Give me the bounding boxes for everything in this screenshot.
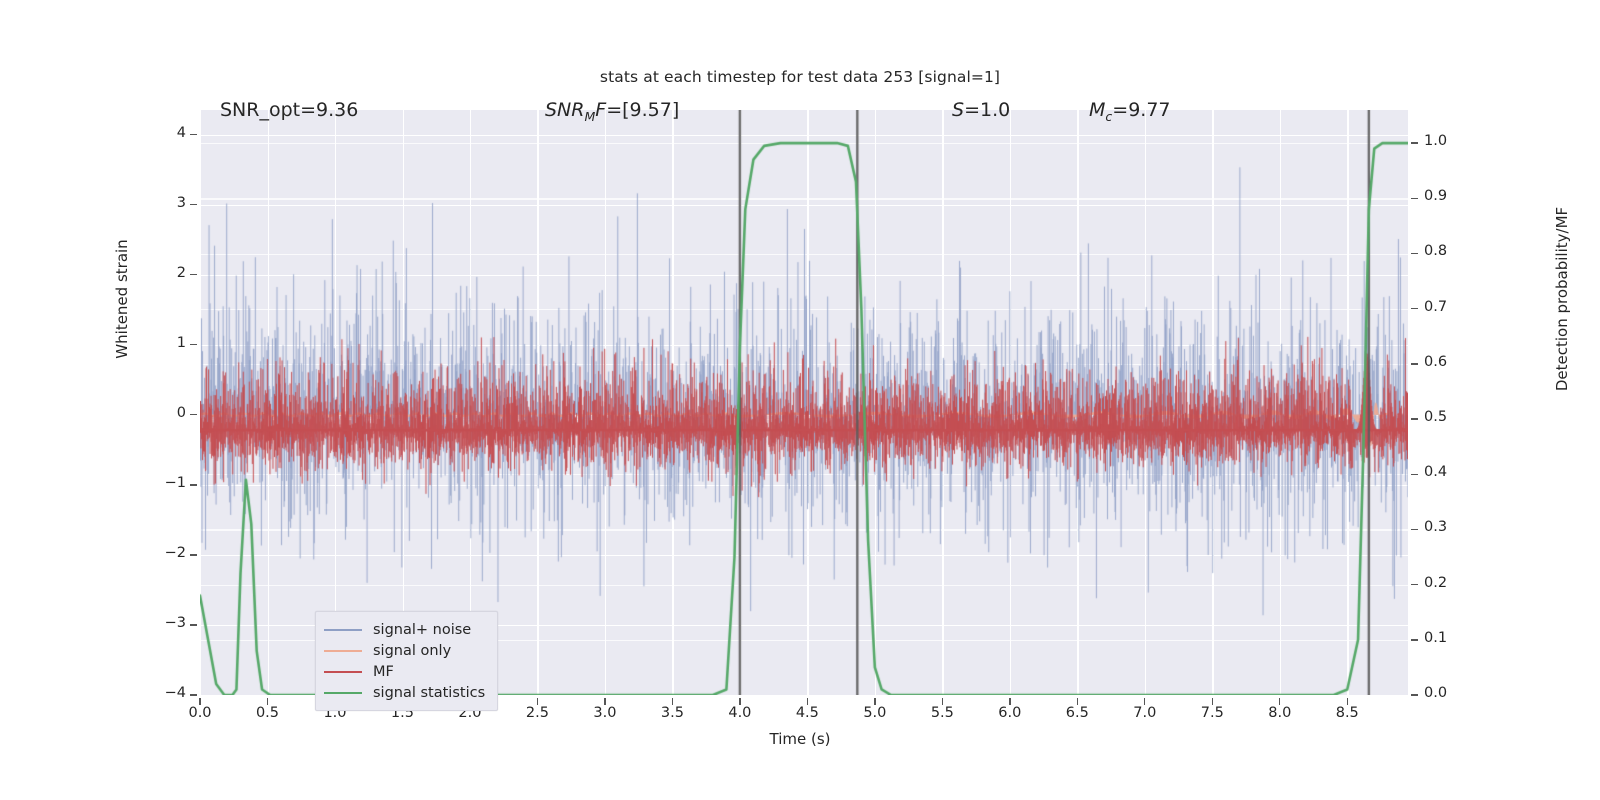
tick-mark — [807, 698, 808, 705]
x-tick-label: 0.0 — [170, 705, 230, 721]
figure-canvas: stats at each timestep for test data 253… — [0, 0, 1600, 800]
x-tick-label: 3.5 — [642, 705, 702, 721]
tick-mark — [1411, 694, 1418, 695]
tick-mark — [1411, 529, 1418, 530]
legend-swatch-icon — [324, 671, 362, 673]
legend-swatch-icon — [324, 629, 362, 631]
tick-mark — [874, 698, 875, 705]
tick-mark — [1411, 198, 1418, 199]
tick-mark — [1144, 698, 1145, 705]
y-tick-label-right: 0.5 — [1424, 409, 1474, 425]
x-tick-label: 4.5 — [777, 705, 837, 721]
tick-mark — [604, 698, 605, 705]
y-tick-label-left: 1 — [138, 335, 186, 351]
y-axis-right-label: Detection probability/MF — [1553, 169, 1571, 429]
tick-mark — [1347, 698, 1348, 705]
plot-area — [200, 110, 1408, 695]
y-tick-label-left: 4 — [138, 125, 186, 141]
tick-mark — [190, 274, 197, 275]
y-tick-label-right: 0.9 — [1424, 188, 1474, 204]
annotation-s: S=1.0 — [952, 99, 1010, 121]
tick-mark — [1009, 698, 1010, 705]
tick-mark — [1411, 308, 1418, 309]
y-tick-label-right: 0.7 — [1424, 299, 1474, 315]
annotation-snr-mf: SNRMF=[9.57] — [545, 99, 679, 124]
y-tick-label-left: −3 — [138, 615, 186, 631]
y-tick-label-right: 0.8 — [1424, 243, 1474, 259]
tick-mark — [672, 698, 673, 705]
y-tick-label-left: −1 — [138, 475, 186, 491]
y-tick-label-right: 0.6 — [1424, 354, 1474, 370]
tick-mark — [199, 698, 200, 705]
tick-mark — [1411, 639, 1418, 640]
y-tick-label-left: −4 — [138, 685, 186, 701]
legend-label: signal+ noise — [373, 622, 471, 638]
tick-mark — [1411, 584, 1418, 585]
tick-mark — [1077, 698, 1078, 705]
y-tick-label-right: 0.0 — [1424, 685, 1474, 701]
x-tick-label: 2.5 — [507, 705, 567, 721]
y-tick-label-right: 0.3 — [1424, 519, 1474, 535]
tick-mark — [537, 698, 538, 705]
tick-mark — [190, 344, 197, 345]
y-tick-label-right: 1.0 — [1424, 133, 1474, 149]
tick-mark — [190, 414, 197, 415]
legend-item[interactable]: signal statistics — [324, 682, 485, 703]
legend[interactable]: signal+ noisesignal onlyMFsignal statist… — [315, 611, 498, 711]
series-canvas — [200, 110, 1408, 695]
y-tick-label-right: 0.1 — [1424, 630, 1474, 646]
tick-mark — [1411, 474, 1418, 475]
y-axis-left-label: Whitened strain — [113, 169, 131, 429]
x-tick-label: 6.5 — [1047, 705, 1107, 721]
tick-mark — [267, 698, 268, 705]
y-tick-label-left: −2 — [138, 545, 186, 561]
tick-mark — [1411, 253, 1418, 254]
x-tick-label: 4.0 — [710, 705, 770, 721]
chart-title: stats at each timestep for test data 253… — [0, 68, 1600, 86]
x-tick-label: 0.5 — [237, 705, 297, 721]
legend-label: MF — [373, 664, 394, 680]
y-tick-label-right: 0.4 — [1424, 464, 1474, 480]
x-tick-label: 8.5 — [1317, 705, 1377, 721]
tick-mark — [190, 694, 197, 695]
tick-mark — [942, 698, 943, 705]
x-tick-label: 6.0 — [980, 705, 1040, 721]
tick-mark — [190, 554, 197, 555]
x-tick-label: 8.0 — [1250, 705, 1310, 721]
x-tick-label: 7.5 — [1182, 705, 1242, 721]
tick-mark — [1411, 142, 1418, 143]
x-tick-label: 5.5 — [912, 705, 972, 721]
annotation-snr-opt: SNR_opt=9.36 — [220, 99, 358, 121]
x-axis-label: Time (s) — [0, 730, 1600, 748]
tick-mark — [190, 204, 197, 205]
y-tick-label-right: 0.2 — [1424, 575, 1474, 591]
tick-mark — [1279, 698, 1280, 705]
tick-mark — [190, 624, 197, 625]
tick-mark — [1411, 363, 1418, 364]
x-tick-label: 7.0 — [1115, 705, 1175, 721]
legend-label: signal only — [373, 643, 451, 659]
y-tick-label-left: 2 — [138, 265, 186, 281]
tick-mark — [190, 134, 197, 135]
y-tick-label-left: 3 — [138, 195, 186, 211]
tick-mark — [1411, 418, 1418, 419]
x-tick-label: 5.0 — [845, 705, 905, 721]
annotation-mchirp: Mc=9.77 — [1089, 99, 1171, 124]
legend-item[interactable]: signal+ noise — [324, 619, 485, 640]
legend-label: signal statistics — [373, 685, 485, 701]
legend-item[interactable]: signal only — [324, 640, 485, 661]
y-tick-label-left: 0 — [138, 405, 186, 421]
legend-item[interactable]: MF — [324, 661, 485, 682]
x-tick-label: 3.0 — [575, 705, 635, 721]
legend-swatch-icon — [324, 650, 362, 652]
legend-swatch-icon — [324, 692, 362, 694]
tick-mark — [190, 484, 197, 485]
tick-mark — [1212, 698, 1213, 705]
tick-mark — [739, 698, 740, 705]
